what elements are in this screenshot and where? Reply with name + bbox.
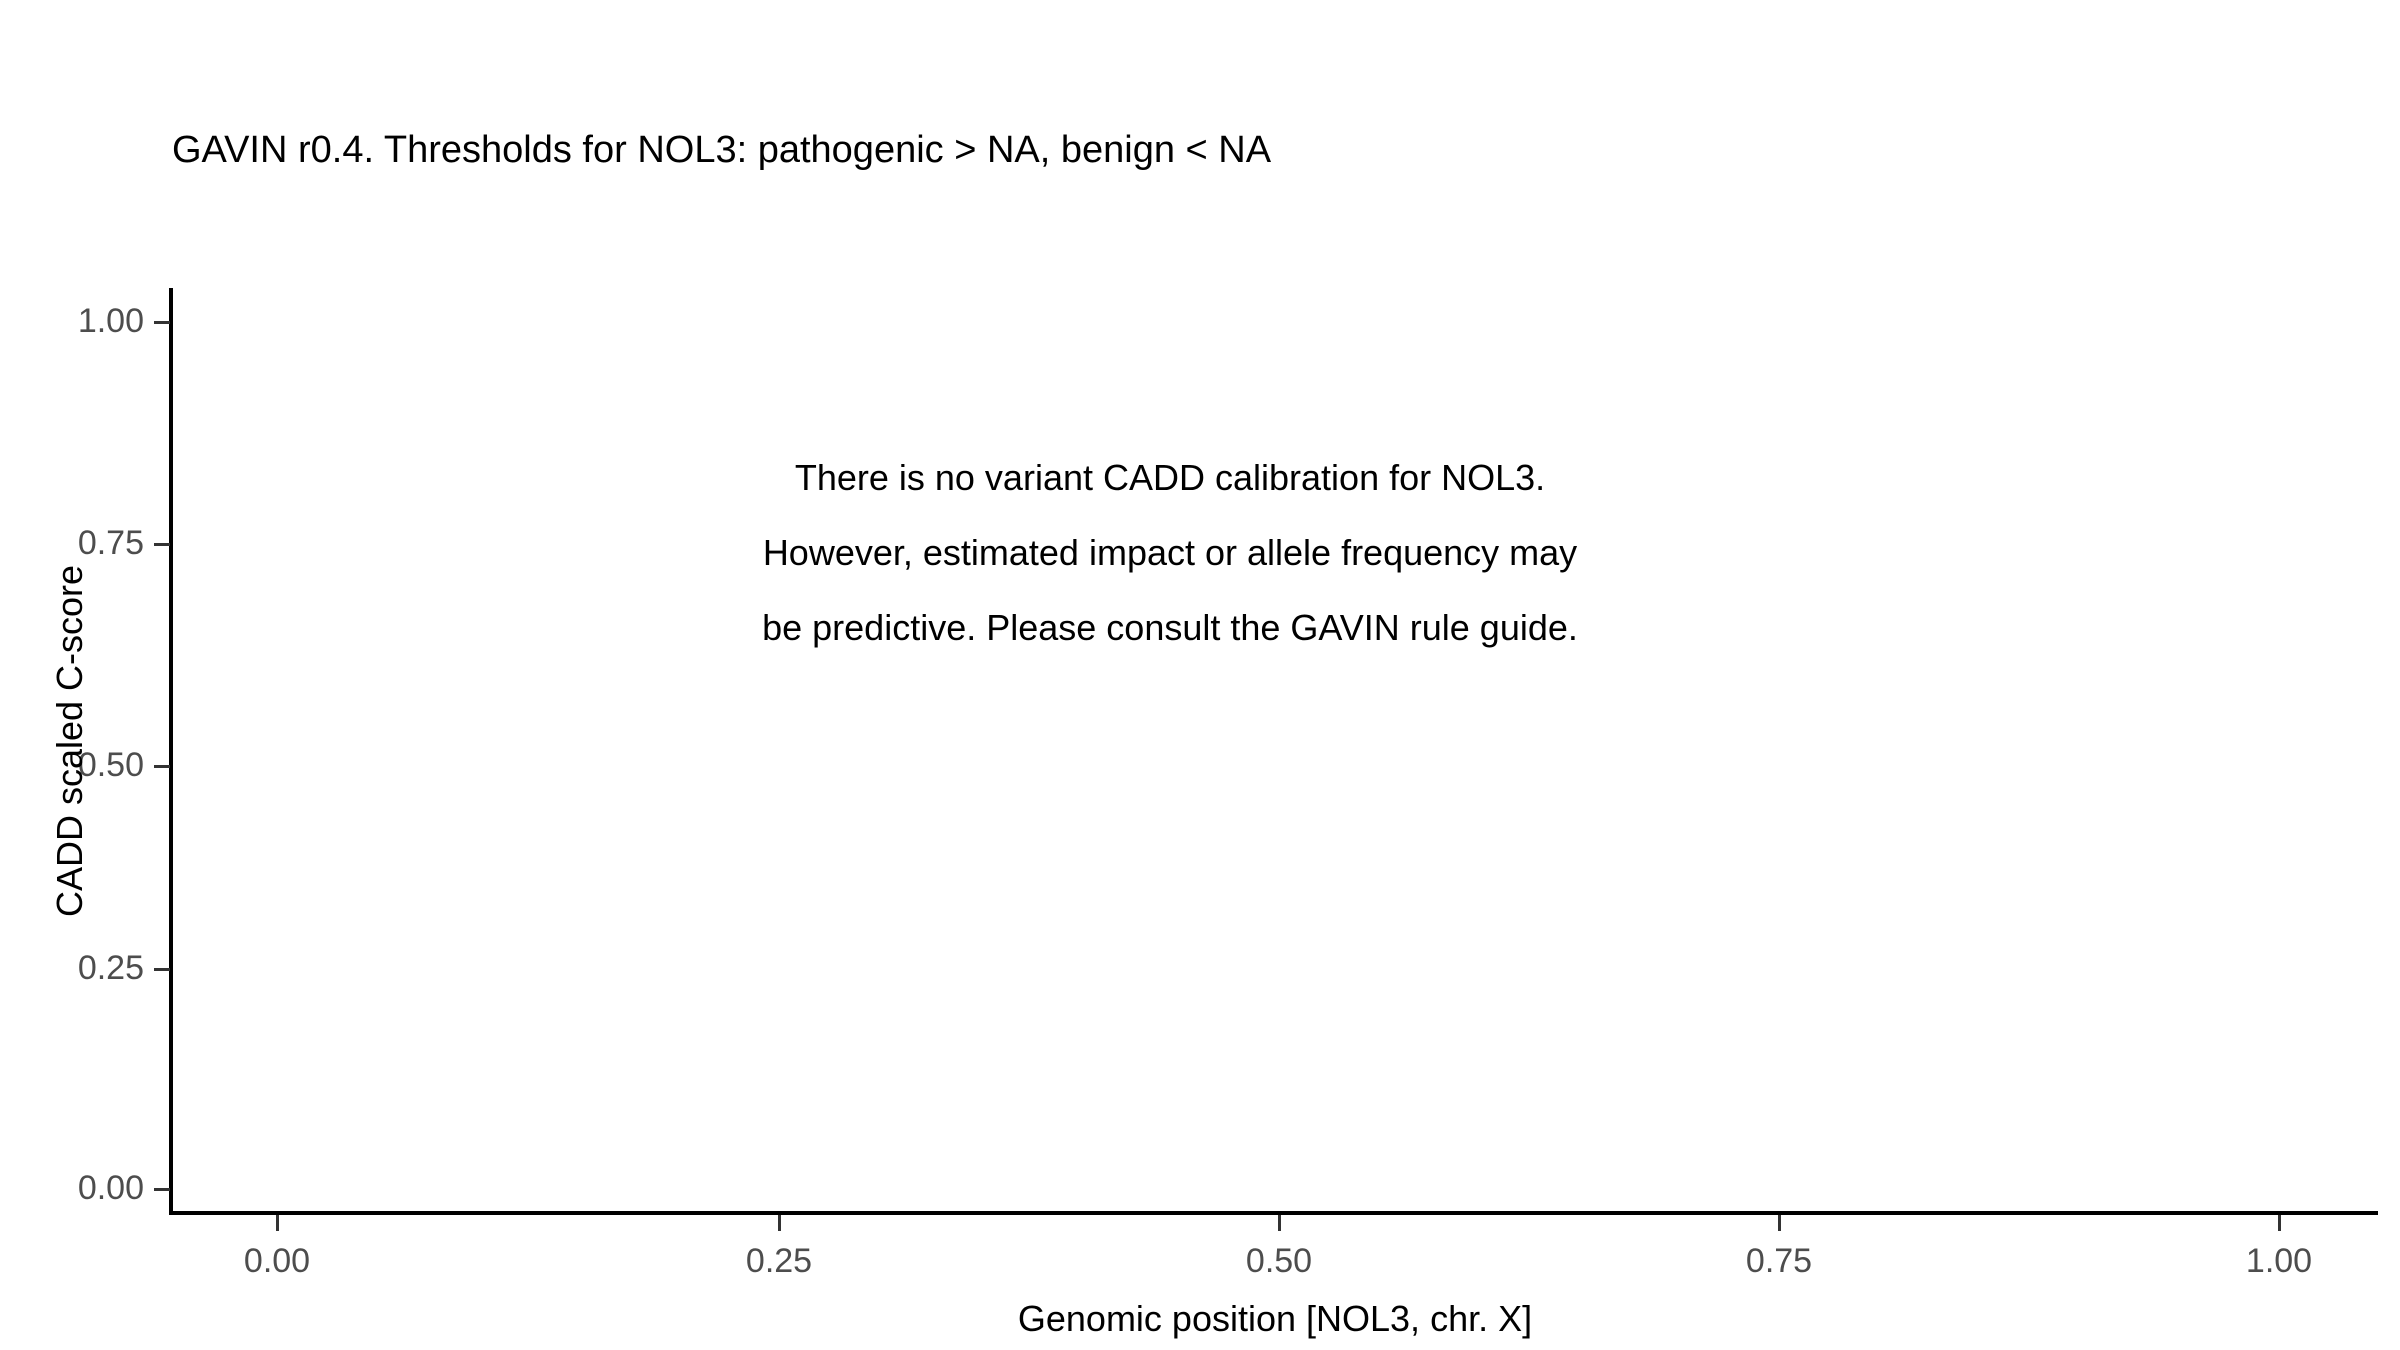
y-tick-mark-1.00 (154, 321, 170, 324)
plot-title-line-1: GAVIN r0.4. Thresholds for NOL3: pathoge… (172, 122, 2272, 179)
panel-annotation-line-1: There is no variant CADD calibration for… (560, 440, 1780, 515)
y-axis-title: CADD scaled C-score (49, 291, 91, 1191)
panel-annotation: There is no variant CADD calibration for… (560, 440, 1780, 665)
x-axis-title: Genomic position [NOL3, chr. X] (172, 1298, 2378, 1340)
panel-annotation-line-2: However, estimated impact or allele freq… (560, 515, 1780, 590)
plot-canvas: GAVIN r0.4. Thresholds for NOL3: pathoge… (0, 0, 2400, 1350)
x-tick-label-0.00: 0.00 (157, 1244, 397, 1278)
x-tick-mark-0.75 (1778, 1215, 1781, 1231)
x-tick-label-0.75: 0.75 (1659, 1244, 1899, 1278)
y-tick-mark-0.75 (154, 543, 170, 546)
x-tick-mark-0.00 (276, 1215, 279, 1231)
x-tick-mark-0.25 (778, 1215, 781, 1231)
y-axis-line (169, 288, 173, 1215)
panel-annotation-line-3: be predictive. Please consult the GAVIN … (560, 590, 1780, 665)
x-axis-line (169, 1211, 2378, 1215)
x-tick-label-0.25: 0.25 (659, 1244, 899, 1278)
x-tick-mark-0.50 (1278, 1215, 1281, 1231)
y-tick-mark-0.00 (154, 1188, 170, 1191)
plot-panel (172, 290, 2378, 1213)
y-tick-mark-0.25 (154, 968, 170, 971)
x-tick-mark-1.00 (2278, 1215, 2281, 1231)
y-tick-mark-0.50 (154, 765, 170, 768)
x-tick-label-1.00: 1.00 (2159, 1244, 2399, 1278)
x-tick-label-0.50: 0.50 (1159, 1244, 1399, 1278)
